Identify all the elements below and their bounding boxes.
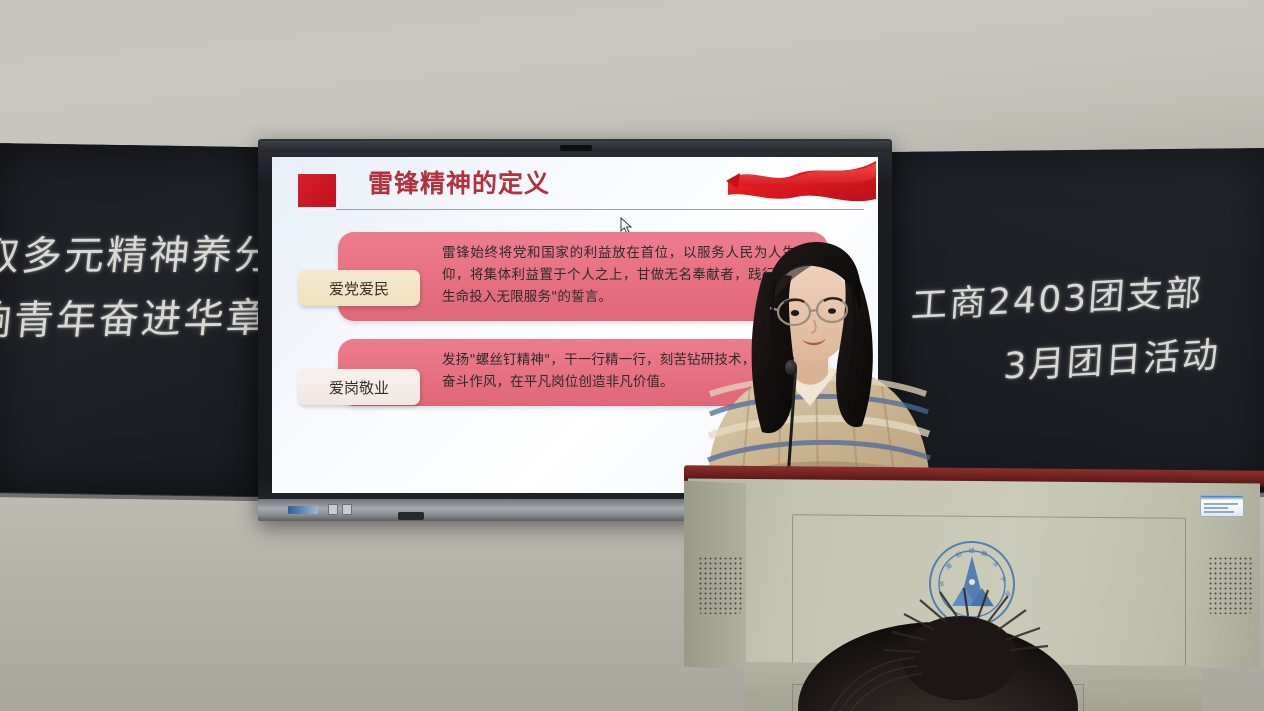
svg-text:政: 政 [981,549,988,558]
chalk-text-right-line2: 3月团日活动 [1002,326,1222,390]
display-brand-logo [288,506,318,514]
audience-member-head [788,588,1108,711]
display-menu-button[interactable] [342,504,352,515]
camera-icon [560,145,592,151]
blackboard-right: 工商2403团支部 3月团日活动 [888,148,1264,497]
slide-tag-1: 爱党爱民 [298,270,420,306]
asset-sticker [1200,495,1244,517]
svg-text:经: 经 [968,546,975,555]
microphone-icon [785,360,797,375]
chalk-text-left-line2: 响青年奋进华章 [0,285,272,346]
svg-text:大: 大 [999,574,1009,584]
ir-receiver-icon [398,512,424,520]
display-power-button[interactable] [328,504,338,515]
wall-upper [0,0,1264,160]
chalk-text-right-line1: 工商2403团支部 [910,264,1206,329]
svg-text:法: 法 [991,559,1000,569]
slide-title: 雷锋精神的定义 [368,167,668,200]
blackboard-left: 取多元精神养分 响青年奋进华章 [0,143,260,497]
slide-tag-2: 爱岗敬业 [298,369,420,405]
display-top-bezel [260,141,890,152]
classroom-scene: 取多元精神养分 响青年奋进华章 工商2403团支部 3月团日活动 雷锋精神的定义 [0,0,1264,711]
speaker-grille-right-icon [1208,556,1252,614]
red-flag-icon [726,157,876,213]
chalk-text-left-line1: 取多元精神养分 [0,222,280,281]
svg-text:财: 财 [955,550,964,560]
title-accent-square [298,174,336,207]
presenter [690,236,940,486]
speaker-grille-left-icon [698,556,742,614]
